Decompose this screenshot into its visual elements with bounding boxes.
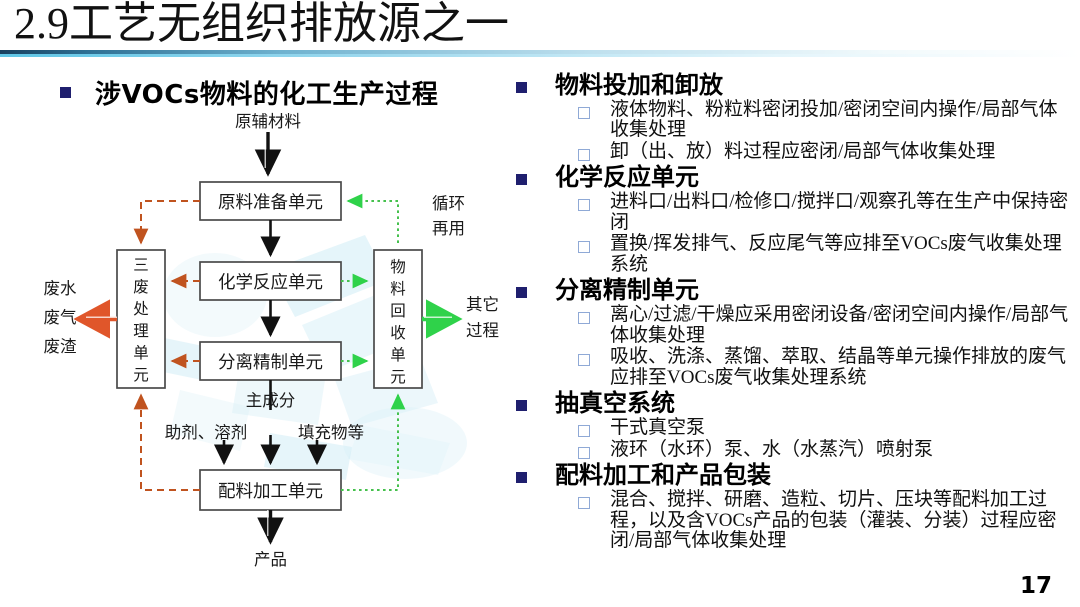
bullet-square-icon <box>516 472 527 483</box>
svg-text:处: 处 <box>133 300 149 318</box>
bullet-sub-item-label: 混合、搅拌、研磨、造粒、切片、压块等配料加工过程，以及含VOCs产品的包装（灌装… <box>610 490 1076 552</box>
bullet-square-icon <box>516 82 527 93</box>
box-separation-label: 分离精制单元 <box>218 352 323 372</box>
bullet-sub-item: 离心/过滤/干燥应采用密闭设备/密闭空间内操作/局部气体收集处理 <box>578 305 1076 346</box>
box-separation: 分离精制单元 <box>200 342 341 380</box>
svg-text:单: 单 <box>390 346 406 364</box>
bullet-section: 化学反应单元 <box>516 164 1076 191</box>
box-raw-prep-label: 原料准备单元 <box>218 192 323 212</box>
label-main-component: 主成分 <box>246 391 296 410</box>
arrow-raw-material-input <box>265 132 268 174</box>
bullet-section: 物料投加和卸放 <box>516 72 1076 99</box>
bullet-sub-item-label: 液体物料、粉粒料密闭投加/密闭空间内操作/局部气体收集处理 <box>610 100 1076 141</box>
bullet-sub-item-label: 进料口/出料口/检修口/搅拌口/观察孔等在生产中保持密闭 <box>610 192 1076 233</box>
label-fillers: 填充物等 <box>298 423 364 442</box>
right-bullet-column: 物料投加和卸放液体物料、粉粒料密闭投加/密闭空间内操作/局部气体收集处理卸（出、… <box>516 70 1076 552</box>
bullet-hollow-square-icon <box>578 354 590 366</box>
label-product: 产品 <box>254 550 287 569</box>
bullet-sub-item: 液体物料、粉粒料密闭投加/密闭空间内操作/局部气体收集处理 <box>578 100 1076 141</box>
label-recycle-line1: 循环 <box>432 194 465 213</box>
bullet-sub-item-label: 吸收、洗涤、蒸馏、萃取、结晶等单元操作排放的废气应排至VOCs废气收集处理系统 <box>610 347 1076 388</box>
box-reaction: 化学反应单元 <box>200 262 341 300</box>
label-waste-residue: 废渣 <box>44 337 78 356</box>
page-number: 17 <box>1020 573 1052 599</box>
bullet-hollow-square-icon <box>578 107 590 119</box>
bullet-section-title: 物料投加和卸放 <box>555 72 723 99</box>
bullet-sub-item-label: 液环（水环）泵、水（水蒸汽）喷射泵 <box>610 440 933 461</box>
left-heading-label: 涉VOCs物料的化工生产过程 <box>95 74 438 111</box>
bullet-section-title: 抽真空系统 <box>555 390 675 417</box>
label-other-process-line2: 过程 <box>466 321 499 340</box>
bullet-hollow-square-icon <box>578 447 590 459</box>
label-recycle-line2: 再用 <box>432 219 465 238</box>
page-title: 2.9工艺无组织排放源之一 <box>14 0 509 50</box>
svg-text:收: 收 <box>390 324 406 342</box>
box-waste-treatment: 三 废 处 理 单 元 <box>117 250 165 388</box>
left-column-heading: 涉VOCs物料的化工生产过程 <box>60 74 438 111</box>
label-raw-material-input: 原辅材料 <box>235 112 301 131</box>
bullet-hollow-square-icon <box>578 149 590 161</box>
bullet-square-icon <box>516 174 527 185</box>
bullet-sub-item-label: 置换/挥发排气、反应尾气等应排至VOCs废气收集处理系统 <box>610 234 1076 275</box>
bullet-hollow-square-icon <box>578 425 590 437</box>
svg-text:单: 单 <box>133 344 149 362</box>
bullet-sub-item-label: 干式真空泵 <box>610 418 705 439</box>
bullet-hollow-square-icon <box>578 497 590 509</box>
arrow-product-output <box>268 510 271 542</box>
box-blending-label: 配料加工单元 <box>218 481 323 501</box>
bullet-section: 配料加工和产品包装 <box>516 462 1076 489</box>
svg-text:回: 回 <box>390 303 406 320</box>
label-other-process-line1: 其它 <box>466 295 499 314</box>
bullet-sub-item: 卸（出、放）料过程应密闭/局部气体收集处理 <box>578 142 1076 163</box>
bullet-section: 抽真空系统 <box>516 390 1076 417</box>
bullet-square-icon <box>516 400 527 411</box>
svg-text:元: 元 <box>133 367 149 384</box>
bullet-sub-item-label: 离心/过滤/干燥应采用密闭设备/密闭空间内操作/局部气体收集处理 <box>610 305 1076 346</box>
box-reaction-label: 化学反应单元 <box>218 272 323 292</box>
label-waste-gas: 废气 <box>44 308 77 327</box>
bullet-sub-item: 吸收、洗涤、蒸馏、萃取、结晶等单元操作排放的废气应排至VOCs废气收集处理系统 <box>578 347 1076 388</box>
bullet-sub-item: 置换/挥发排气、反应尾气等应排至VOCs废气收集处理系统 <box>578 234 1076 275</box>
bullet-section-title: 分离精制单元 <box>555 277 699 304</box>
svg-text:元: 元 <box>390 369 406 386</box>
svg-text:料: 料 <box>390 280 406 298</box>
box-material-recovery-label-1: 物 <box>390 258 406 276</box>
bullet-square-icon <box>60 87 71 98</box>
box-waste-treatment-label-1: 三 <box>133 257 149 274</box>
box-raw-prep: 原料准备单元 <box>200 182 341 220</box>
bullet-sub-item: 干式真空泵 <box>578 418 1076 439</box>
bullet-section-title: 化学反应单元 <box>555 164 699 191</box>
bullet-hollow-square-icon <box>578 199 590 211</box>
bullet-sub-item: 进料口/出料口/检修口/搅拌口/观察孔等在生产中保持密闭 <box>578 192 1076 233</box>
svg-text:理: 理 <box>133 323 149 340</box>
svg-text:废: 废 <box>133 278 149 296</box>
bullet-section: 分离精制单元 <box>516 277 1076 304</box>
label-waste-water: 废水 <box>44 279 78 298</box>
process-flow-diagram: 原料准备单元 化学反应单元 分离精制单元 配料加工单元 三 废 处 理 单 元 … <box>0 110 500 580</box>
bullet-hollow-square-icon <box>578 312 590 324</box>
label-additives: 助剂、溶剂 <box>165 423 248 442</box>
bullet-square-icon <box>516 287 527 298</box>
bullet-hollow-square-icon <box>578 241 590 253</box>
box-blending: 配料加工单元 <box>200 470 341 510</box>
bullet-sub-item-label: 卸（出、放）料过程应密闭/局部气体收集处理 <box>610 142 995 163</box>
arrow-other-process-output <box>422 317 458 319</box>
bullet-sub-item: 液环（水环）泵、水（水蒸汽）喷射泵 <box>578 440 1076 461</box>
arrow-waste-output <box>78 317 117 319</box>
slide-root: 2.9工艺无组织排放源之一 涉VOCs物料的化工生产过程 <box>0 0 1080 607</box>
header-rule-accent <box>0 54 1080 57</box>
box-material-recovery: 物 料 回 收 单 元 <box>374 250 422 388</box>
bullet-section-title: 配料加工和产品包装 <box>555 462 771 489</box>
bullet-sub-item: 混合、搅拌、研磨、造粒、切片、压块等配料加工过程，以及含VOCs产品的包装（灌装… <box>578 490 1076 552</box>
